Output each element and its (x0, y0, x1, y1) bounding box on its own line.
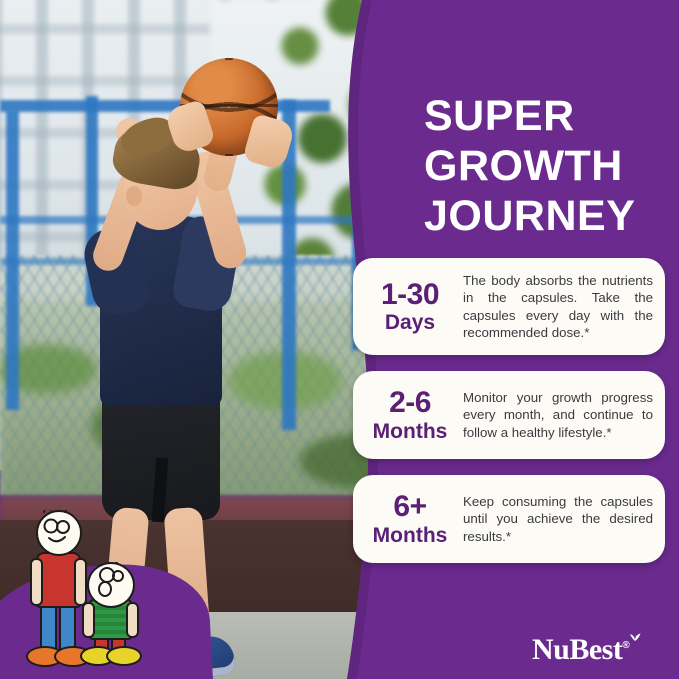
card-description: The body absorbs the nutrients in the ca… (463, 272, 653, 342)
product-photo (0, 0, 380, 679)
mascot-tall-face-icon (36, 510, 78, 552)
title-line-3: JOURNEY (424, 191, 674, 241)
card-term-value: 1-30 (361, 279, 459, 311)
card-term-unit: Days (361, 312, 459, 334)
card-description: Keep consuming the capsules until you ac… (463, 493, 653, 546)
mascot-short-arm-right (126, 602, 139, 638)
brand-logo: NuBest® (532, 633, 629, 667)
card-term: 2-6 Months (361, 387, 463, 443)
sprout-leaf-icon (628, 630, 642, 642)
card-term-value: 2-6 (361, 387, 459, 419)
timeline-card-list: 1-30 Days The body absorbs the nutrients… (353, 258, 665, 579)
mascot-short-kid (78, 562, 144, 674)
promo-graphic: SUPER GROWTH JOURNEY 1-30 Days The body … (0, 0, 679, 679)
page-title: SUPER GROWTH JOURNEY (424, 91, 674, 241)
card-term-value: 6+ (361, 491, 459, 523)
title-line-1: SUPER (424, 91, 674, 141)
card-term-unit: Months (361, 421, 459, 443)
title-line-2: GROWTH (424, 141, 674, 191)
mascot-tall-arm-left (30, 558, 43, 606)
card-term-unit: Months (361, 525, 459, 547)
mascot-short-face-icon (87, 562, 131, 604)
mascot-short-arm-left (82, 602, 95, 638)
timeline-card: 1-30 Days The body absorbs the nutrients… (353, 258, 665, 355)
player-ear (126, 186, 142, 206)
card-description: Monitor your growth progress every month… (463, 389, 653, 442)
card-term: 6+ Months (361, 491, 463, 547)
timeline-card: 2-6 Months Monitor your growth progress … (353, 371, 665, 459)
mascot-short-shoe-right (106, 646, 142, 666)
timeline-card: 6+ Months Keep consuming the capsules un… (353, 475, 665, 563)
brand-logo-text: NuBest (532, 633, 622, 666)
card-term: 1-30 Days (361, 279, 463, 335)
